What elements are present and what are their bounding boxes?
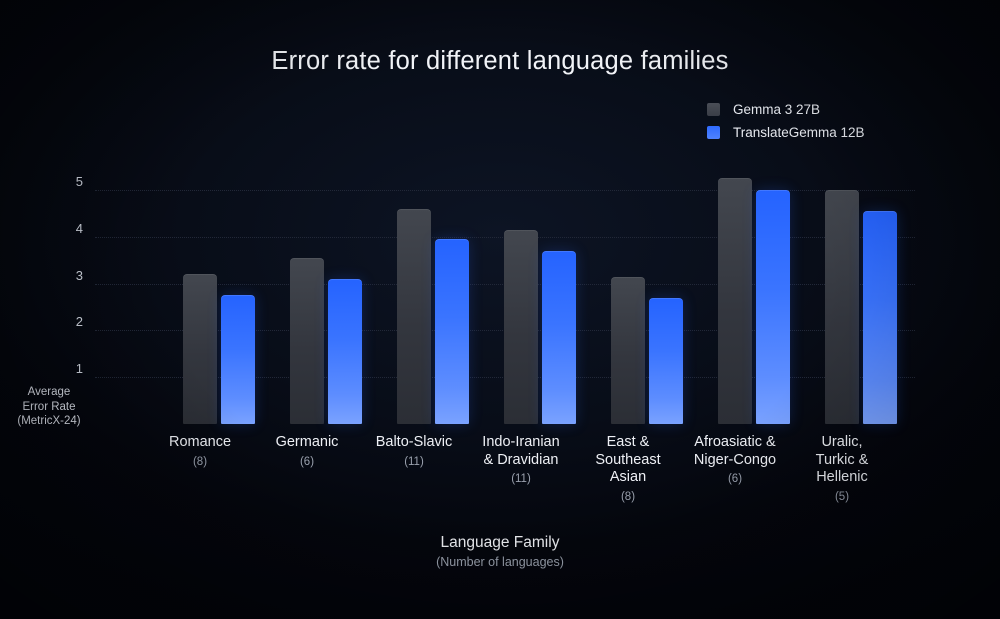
x-label-line: East &	[607, 434, 650, 450]
bar-translategemma-12b-afroasiatic-niger-congo	[756, 190, 790, 424]
bar-translategemma-12b-romance	[221, 295, 255, 424]
bar-gemma-3-27b-east-southeast-asian	[611, 277, 645, 424]
ytick-label-5: 5	[53, 174, 83, 189]
x-label-line: Southeast	[595, 452, 660, 468]
bar-groups	[95, 190, 915, 424]
ytick-label-3: 3	[53, 268, 83, 283]
bar-gemma-3-27b-romance	[183, 274, 217, 424]
x-label-uralic-turkic-hellenic: Uralic,Turkic &Hellenic(5)	[777, 434, 907, 506]
x-label-line: & Dravidian	[484, 452, 559, 468]
x-axis-tick-labels: Romance(8) Germanic(6) Balto-Slavic(11) …	[95, 434, 915, 514]
chart-title: Error rate for different language famili…	[0, 47, 1000, 76]
y-axis-label: Average Error Rate (MetricX-24)	[6, 385, 92, 429]
x-label-line: Indo-Iranian	[482, 434, 559, 450]
x-label-line: Germanic	[276, 434, 339, 450]
y-axis-label-line-2: Error Rate	[22, 401, 75, 413]
bar-translategemma-12b-balto-slavic	[435, 239, 469, 424]
bar-gemma-3-27b-uralic-turkic-hellenic	[825, 190, 859, 424]
bar-translategemma-12b-indo-iranian-dravidian	[542, 251, 576, 424]
x-axis-title: Language Family	[0, 534, 1000, 552]
bar-gemma-3-27b-germanic	[290, 258, 324, 424]
x-label-count: (8)	[563, 489, 693, 507]
chart-legend: Gemma 3 27B TranslateGemma 12B	[707, 99, 865, 145]
bar-translategemma-12b-germanic	[328, 279, 362, 424]
bar-gemma-3-27b-indo-iranian-dravidian	[504, 230, 538, 424]
x-label-count: (5)	[777, 489, 907, 507]
ytick-label-4: 4	[53, 221, 83, 236]
bar-translategemma-12b-uralic-turkic-hellenic	[863, 211, 897, 424]
bar-gemma-3-27b-afroasiatic-niger-congo	[718, 178, 752, 424]
chart-slide: Error rate for different language famili…	[0, 0, 1000, 619]
y-axis-label-line-3: (MetricX-24)	[17, 415, 80, 427]
x-label-line: Afroasiatic &	[694, 434, 775, 450]
x-label-line: Asian	[610, 469, 646, 485]
legend-swatch-icon-gray	[707, 103, 720, 116]
bar-translategemma-12b-east-southeast-asian	[649, 298, 683, 424]
legend-label-translategemma-12b: TranslateGemma 12B	[733, 125, 865, 140]
legend-label-gemma-3-27b: Gemma 3 27B	[733, 102, 820, 117]
legend-item-gemma-3-27b: Gemma 3 27B	[707, 99, 865, 119]
x-axis-subtitle: (Number of languages)	[0, 555, 1000, 569]
ytick-label-2: 2	[53, 314, 83, 329]
y-axis-label-line-1: Average	[28, 386, 71, 398]
legend-item-translategemma-12b: TranslateGemma 12B	[707, 122, 865, 142]
x-label-line: Uralic,	[821, 434, 862, 450]
x-label-line: Turkic &	[816, 452, 869, 468]
x-label-line: Balto-Slavic	[376, 434, 453, 450]
x-label-line: Hellenic	[816, 469, 868, 485]
x-label-line: Romance	[169, 434, 231, 450]
ytick-label-1: 1	[53, 361, 83, 376]
legend-swatch-icon-blue	[707, 126, 720, 139]
bar-gemma-3-27b-balto-slavic	[397, 209, 431, 424]
x-label-line: Niger-Congo	[694, 452, 776, 468]
